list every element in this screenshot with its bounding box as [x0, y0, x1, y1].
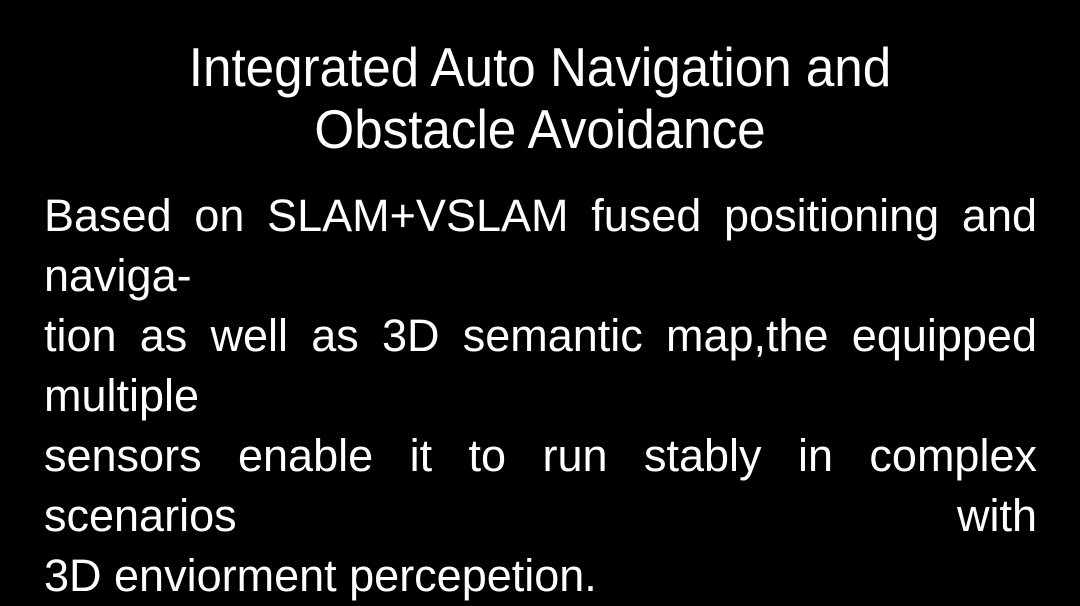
body-line-1: Based on SLAM+VSLAM fused positioning an… [44, 186, 1037, 306]
body-line-2: tion as well as 3D semantic map,the equi… [44, 306, 1037, 426]
presentation-slide: Integrated Auto Navigation and Obstacle … [0, 0, 1080, 466]
slide-title: Integrated Auto Navigation and Obstacle … [0, 36, 1080, 160]
body-line-4: 3D enviorment percepetion. [44, 546, 1037, 606]
slide-body-paragraph: Based on SLAM+VSLAM fused positioning an… [44, 186, 1037, 606]
title-line-1: Integrated Auto Navigation and [38, 36, 1042, 98]
body-line-3: sensors enable it to run stably in compl… [44, 426, 1037, 546]
title-line-2: Obstacle Avoidance [38, 98, 1042, 160]
